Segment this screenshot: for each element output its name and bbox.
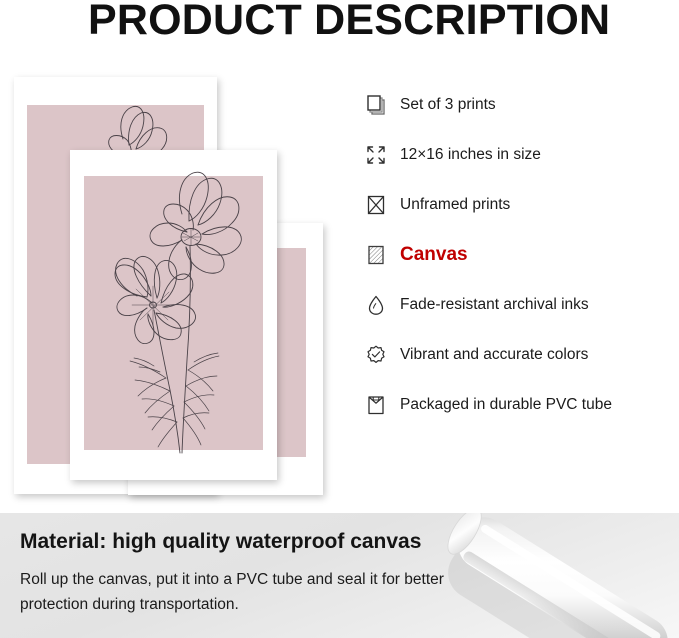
hatched-canvas-icon	[364, 242, 390, 268]
feature-label: Canvas	[400, 244, 468, 266]
material-panel: Material: high quality waterproof canvas…	[0, 513, 679, 638]
check-badge-icon	[364, 342, 390, 368]
feature-label: Packaged in durable PVC tube	[400, 396, 612, 414]
material-body-text: Roll up the canvas, put it into a PVC tu…	[20, 567, 480, 617]
feature-row-set-of-prints: Set of 3 prints	[364, 80, 676, 130]
feature-row-archival-inks: Fade-resistant archival inks	[364, 280, 676, 330]
feature-label: Unframed prints	[400, 196, 510, 214]
product-description-page: PRODUCT DESCRIPTION	[0, 0, 679, 638]
feature-list: Set of 3 prints 12×16 inches in size	[364, 80, 676, 430]
feature-label: Fade-resistant archival inks	[400, 296, 589, 314]
material-heading: Material: high quality waterproof canvas	[20, 530, 421, 554]
ink-droplet-icon	[364, 292, 390, 318]
poster-front-middle	[70, 150, 277, 480]
package-envelope-icon	[364, 392, 390, 418]
feature-row-size: 12×16 inches in size	[364, 130, 676, 180]
feature-row-unframed: Unframed prints	[364, 180, 676, 230]
crossed-frame-icon	[364, 192, 390, 218]
poster-mat	[84, 176, 263, 450]
product-image-group	[0, 60, 360, 505]
resize-arrows-icon	[364, 142, 390, 168]
stacked-pages-icon	[364, 92, 390, 118]
page-title: PRODUCT DESCRIPTION	[88, 0, 610, 45]
feature-label: Vibrant and accurate colors	[400, 346, 588, 364]
feature-label: Set of 3 prints	[400, 96, 496, 114]
feature-row-pvc-tube: Packaged in durable PVC tube	[364, 380, 676, 430]
feature-row-canvas: Canvas	[364, 230, 676, 280]
feature-label: 12×16 inches in size	[400, 146, 541, 164]
feature-row-vibrant-colors: Vibrant and accurate colors	[364, 330, 676, 380]
